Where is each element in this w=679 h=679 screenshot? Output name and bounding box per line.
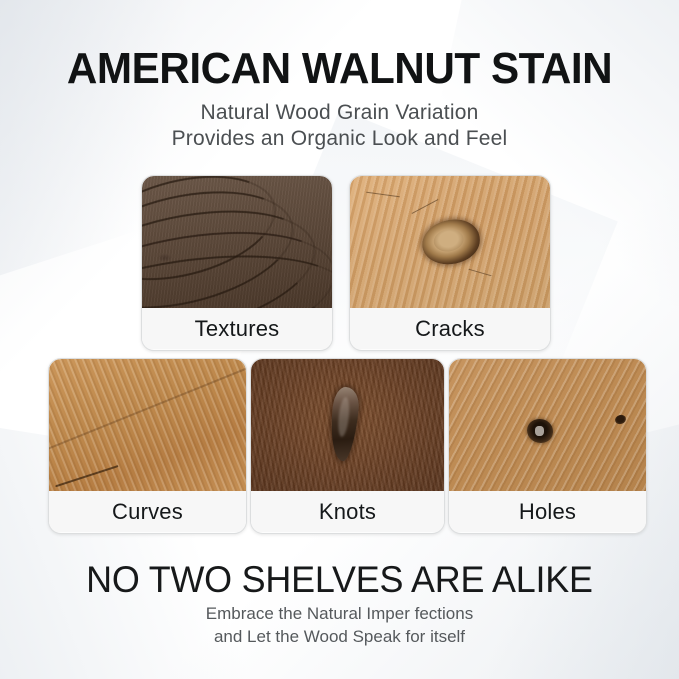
feature-card-textures[interactable]: Textures (141, 175, 333, 351)
wood-texture-swatch (142, 176, 332, 308)
feature-image-textures (142, 176, 332, 308)
feature-label-cracks: Cracks (350, 308, 550, 349)
feature-image-curves (49, 359, 246, 491)
crack-line (366, 192, 400, 198)
hole-mark (614, 414, 627, 426)
crack-line (468, 269, 491, 277)
wood-texture-swatch (251, 359, 444, 491)
feature-image-knots (251, 359, 444, 491)
feature-label-knots: Knots (251, 491, 444, 532)
page-subtitle-line-1: Natural Wood Grain Variation (0, 100, 679, 126)
grain-split-line (49, 362, 246, 458)
feature-label-holes: Holes (449, 491, 646, 532)
knot-mark (419, 215, 484, 268)
wood-plank-edge (49, 359, 246, 491)
feature-image-holes (449, 359, 646, 491)
infographic-page: AMERICAN WALNUT STAIN Natural Wood Grain… (0, 0, 679, 679)
wood-texture-swatch (449, 359, 646, 491)
footer-subtitle: Embrace the Natural Imper fections and L… (0, 602, 679, 648)
knot-mark (327, 386, 361, 462)
footer-subtitle-line-1: Embrace the Natural Imper fections (0, 602, 679, 625)
feature-card-holes[interactable]: Holes (448, 358, 647, 534)
feature-card-curves[interactable]: Curves (48, 358, 247, 534)
feature-card-knots[interactable]: Knots (250, 358, 445, 534)
page-subtitle: Natural Wood Grain Variation Provides an… (0, 100, 679, 152)
hole-mark (527, 419, 553, 443)
feature-card-cracks[interactable]: Cracks (349, 175, 551, 351)
page-subtitle-line-2: Provides an Organic Look and Feel (0, 126, 679, 152)
footer-title: NO TWO SHELVES ARE ALIKE (10, 558, 669, 601)
wood-texture-swatch (350, 176, 550, 308)
page-title: AMERICAN WALNUT STAIN (14, 44, 666, 94)
feature-label-curves: Curves (49, 491, 246, 532)
crack-line (55, 465, 118, 487)
feature-label-textures: Textures (142, 308, 332, 349)
footer-subtitle-line-2: and Let the Wood Speak for itself (0, 625, 679, 648)
wood-texture-swatch (49, 359, 246, 491)
feature-image-cracks (350, 176, 550, 308)
crack-line (412, 199, 439, 214)
